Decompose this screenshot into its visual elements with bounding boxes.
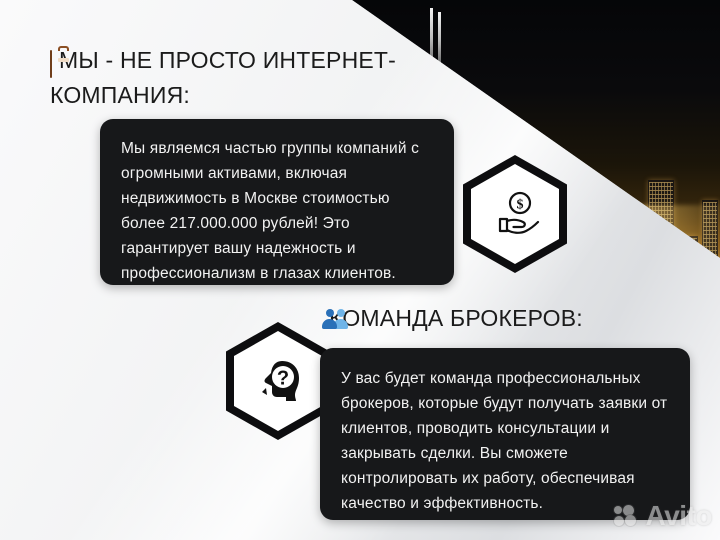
section-one-body: Мы являемся частью группы компаний с огр… xyxy=(121,136,434,286)
svg-text:?: ? xyxy=(277,368,289,390)
section-two-panel: У вас будет команда профессиональных бро… xyxy=(320,348,690,520)
section-two-heading-text: КОМАНДА БРОКЕРОВ: xyxy=(329,305,583,331)
avito-watermark: Avito xyxy=(614,500,712,532)
section-two-body: У вас будет команда профессиональных бро… xyxy=(341,366,670,516)
avito-wordmark: Avito xyxy=(646,500,712,532)
briefcase-icon xyxy=(50,49,52,80)
hexagon-glyph: ? xyxy=(226,322,330,440)
svg-text:$: $ xyxy=(517,198,524,213)
section-one-heading: МЫ - НЕ ПРОСТО ИНТЕРНЕТ-КОМПАНИЯ: xyxy=(50,45,410,111)
section-two-heading: КОМАНДА БРОКЕРОВ: xyxy=(322,303,652,334)
head-question-mark-icon: ? xyxy=(226,322,330,440)
promo-slide: МЫ - НЕ ПРОСТО ИНТЕРНЕТ-КОМПАНИЯ: Мы явл… xyxy=(0,0,720,540)
avito-dots-icon xyxy=(614,505,640,527)
section-one-heading-text: МЫ - НЕ ПРОСТО ИНТЕРНЕТ-КОМПАНИЯ: xyxy=(50,47,396,108)
section-one-panel: Мы являемся частью группы компаний с огр… xyxy=(100,119,454,285)
hexagon-glyph: $ xyxy=(463,155,567,273)
hand-holding-money-icon: $ xyxy=(463,155,567,273)
